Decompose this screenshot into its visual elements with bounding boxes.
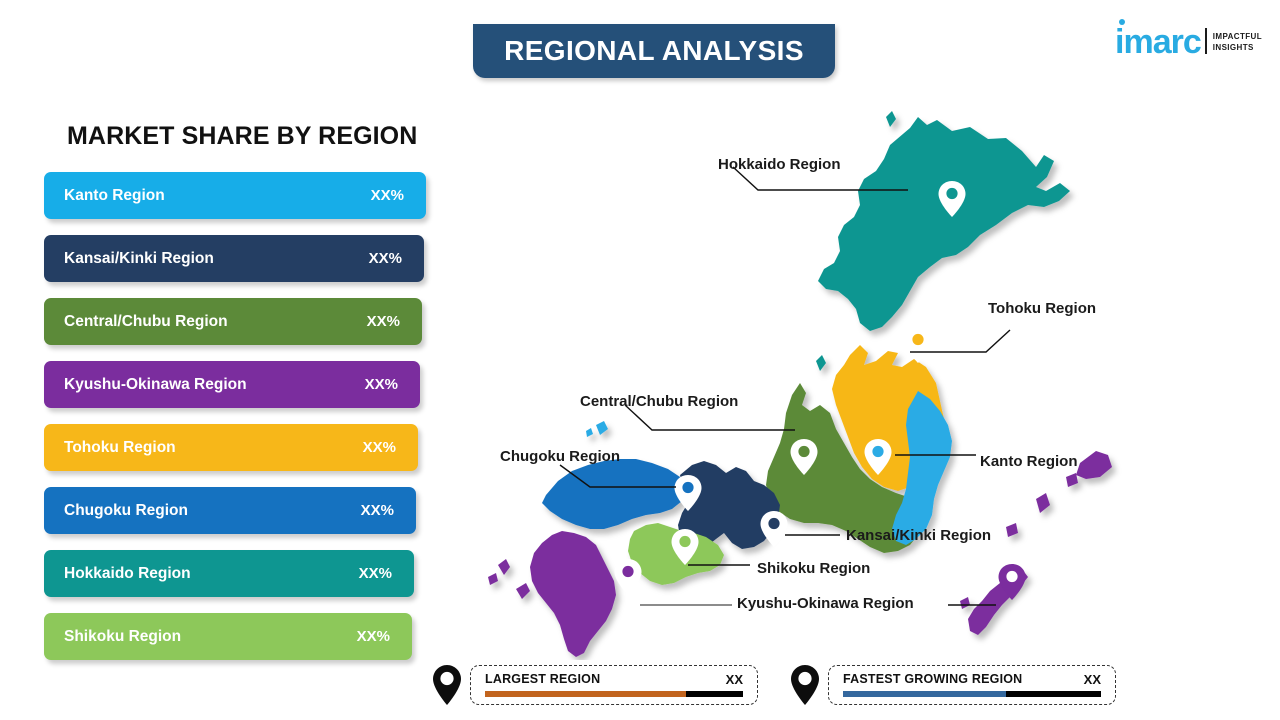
summary-card-fill <box>843 691 1006 697</box>
map-label-kanto: Kanto Region <box>980 453 1078 470</box>
market-share-bar-value: XX% <box>363 439 396 456</box>
market-share-bar[interactable]: Hokkaido RegionXX% <box>44 550 414 597</box>
map-island-amakusa <box>516 583 530 599</box>
map-region-chugoku <box>542 459 686 529</box>
summary-card-track <box>843 691 1101 697</box>
market-share-bar-label: Kyushu-Okinawa Region <box>64 376 247 394</box>
map-island-amami2 <box>1066 473 1078 487</box>
summary-card[interactable]: LARGEST REGIONXX <box>432 660 758 710</box>
map-island-okushiri <box>816 355 826 371</box>
summary-card-value: XX <box>726 672 743 687</box>
map-label-kyushu-okinawa: Kyushu-Okinawa Region <box>737 595 914 612</box>
pin-kyushu <box>615 559 642 595</box>
summary-card-fill <box>485 691 686 697</box>
map-island-oki2 <box>586 428 593 437</box>
map-island-goto <box>498 559 510 575</box>
summary-card-body: FASTEST GROWING REGIONXX <box>828 665 1116 705</box>
map-island-rishiri <box>886 111 896 127</box>
logo-wordmark: imarc <box>1115 26 1201 58</box>
market-share-bar[interactable]: Kansai/Kinki RegionXX% <box>44 235 424 282</box>
market-share-bar-value: XX% <box>359 565 392 582</box>
map-island-tokunoshima <box>1036 493 1050 513</box>
summary-card-body: LARGEST REGIONXX <box>470 665 758 705</box>
logo-divider <box>1205 28 1207 54</box>
map-region-kyushu <box>530 531 616 657</box>
location-pin-icon <box>432 664 462 706</box>
summary-card-caption: LARGEST REGION <box>485 672 600 686</box>
market-share-bar-value: XX% <box>371 187 404 204</box>
summary-cards: LARGEST REGIONXXFASTEST GROWING REGIONXX <box>432 660 1144 710</box>
map-island-oki <box>596 421 608 435</box>
market-share-bar[interactable]: Kyushu-Okinawa RegionXX% <box>44 361 420 408</box>
logo-dot-icon <box>1119 19 1125 25</box>
map-label-shikoku: Shikoku Region <box>757 560 870 577</box>
summary-card-value: XX <box>1084 672 1101 687</box>
market-share-bar-label: Kanto Region <box>64 187 165 205</box>
market-share-bar-label: Shikoku Region <box>64 628 181 646</box>
map-label-hokkaido: Hokkaido Region <box>718 156 841 173</box>
market-share-bar-label: Tohoku Region <box>64 439 176 457</box>
location-pin-icon <box>790 664 820 706</box>
market-share-bar[interactable]: Chugoku RegionXX% <box>44 487 416 534</box>
market-share-bar[interactable]: Kanto RegionXX% <box>44 172 426 219</box>
map-label-chugoku: Chugoku Region <box>500 448 620 465</box>
logo-tagline-line2: INSIGHTS <box>1213 43 1262 54</box>
market-share-bar-value: XX% <box>361 502 394 519</box>
market-share-bar-label: Kansai/Kinki Region <box>64 250 214 268</box>
pin-tohoku <box>905 327 932 363</box>
market-share-bar-value: XX% <box>365 376 398 393</box>
panel-title: MARKET SHARE BY REGION <box>67 122 417 151</box>
market-share-list: Kanto RegionXX%Kansai/Kinki RegionXX%Cen… <box>44 172 439 676</box>
pin-kansai <box>761 511 788 547</box>
map-label-kansai-kinki: Kansai/Kinki Region <box>846 527 991 544</box>
page-title-banner: REGIONAL ANALYSIS <box>473 24 835 78</box>
map-island-okinoerabu <box>1006 523 1018 537</box>
map-island-amami <box>1076 451 1112 479</box>
map-label-tohoku: Tohoku Region <box>988 300 1096 317</box>
market-share-bar[interactable]: Tohoku RegionXX% <box>44 424 418 471</box>
map-island-kume <box>960 597 970 609</box>
map-label-central-chubu: Central/Chubu Region <box>580 393 738 410</box>
market-share-bar[interactable]: Shikoku RegionXX% <box>44 613 412 660</box>
market-share-bar-label: Hokkaido Region <box>64 565 191 583</box>
map-region-hokkaido <box>818 117 1070 331</box>
logo-tagline-line1: IMPACTFUL <box>1213 32 1262 43</box>
map-island-goto2 <box>488 573 498 585</box>
market-share-bar-value: XX% <box>367 313 400 330</box>
summary-card[interactable]: FASTEST GROWING REGIONXX <box>790 660 1116 710</box>
market-share-bar-value: XX% <box>357 628 390 645</box>
market-share-bar-value: XX% <box>369 250 402 267</box>
summary-card-caption: FASTEST GROWING REGION <box>843 672 1022 686</box>
slide-canvas: REGIONAL ANALYSIS imarc IMPACTFUL INSIGH… <box>0 0 1280 720</box>
logo-tagline: IMPACTFUL INSIGHTS <box>1213 32 1262 54</box>
market-share-bar-label: Chugoku Region <box>64 502 188 520</box>
market-share-bar-label: Central/Chubu Region <box>64 313 228 331</box>
imarc-logo: imarc IMPACTFUL INSIGHTS <box>1115 14 1262 58</box>
page-title: REGIONAL ANALYSIS <box>504 35 804 67</box>
market-share-bar[interactable]: Central/Chubu RegionXX% <box>44 298 422 345</box>
summary-card-track <box>485 691 743 697</box>
